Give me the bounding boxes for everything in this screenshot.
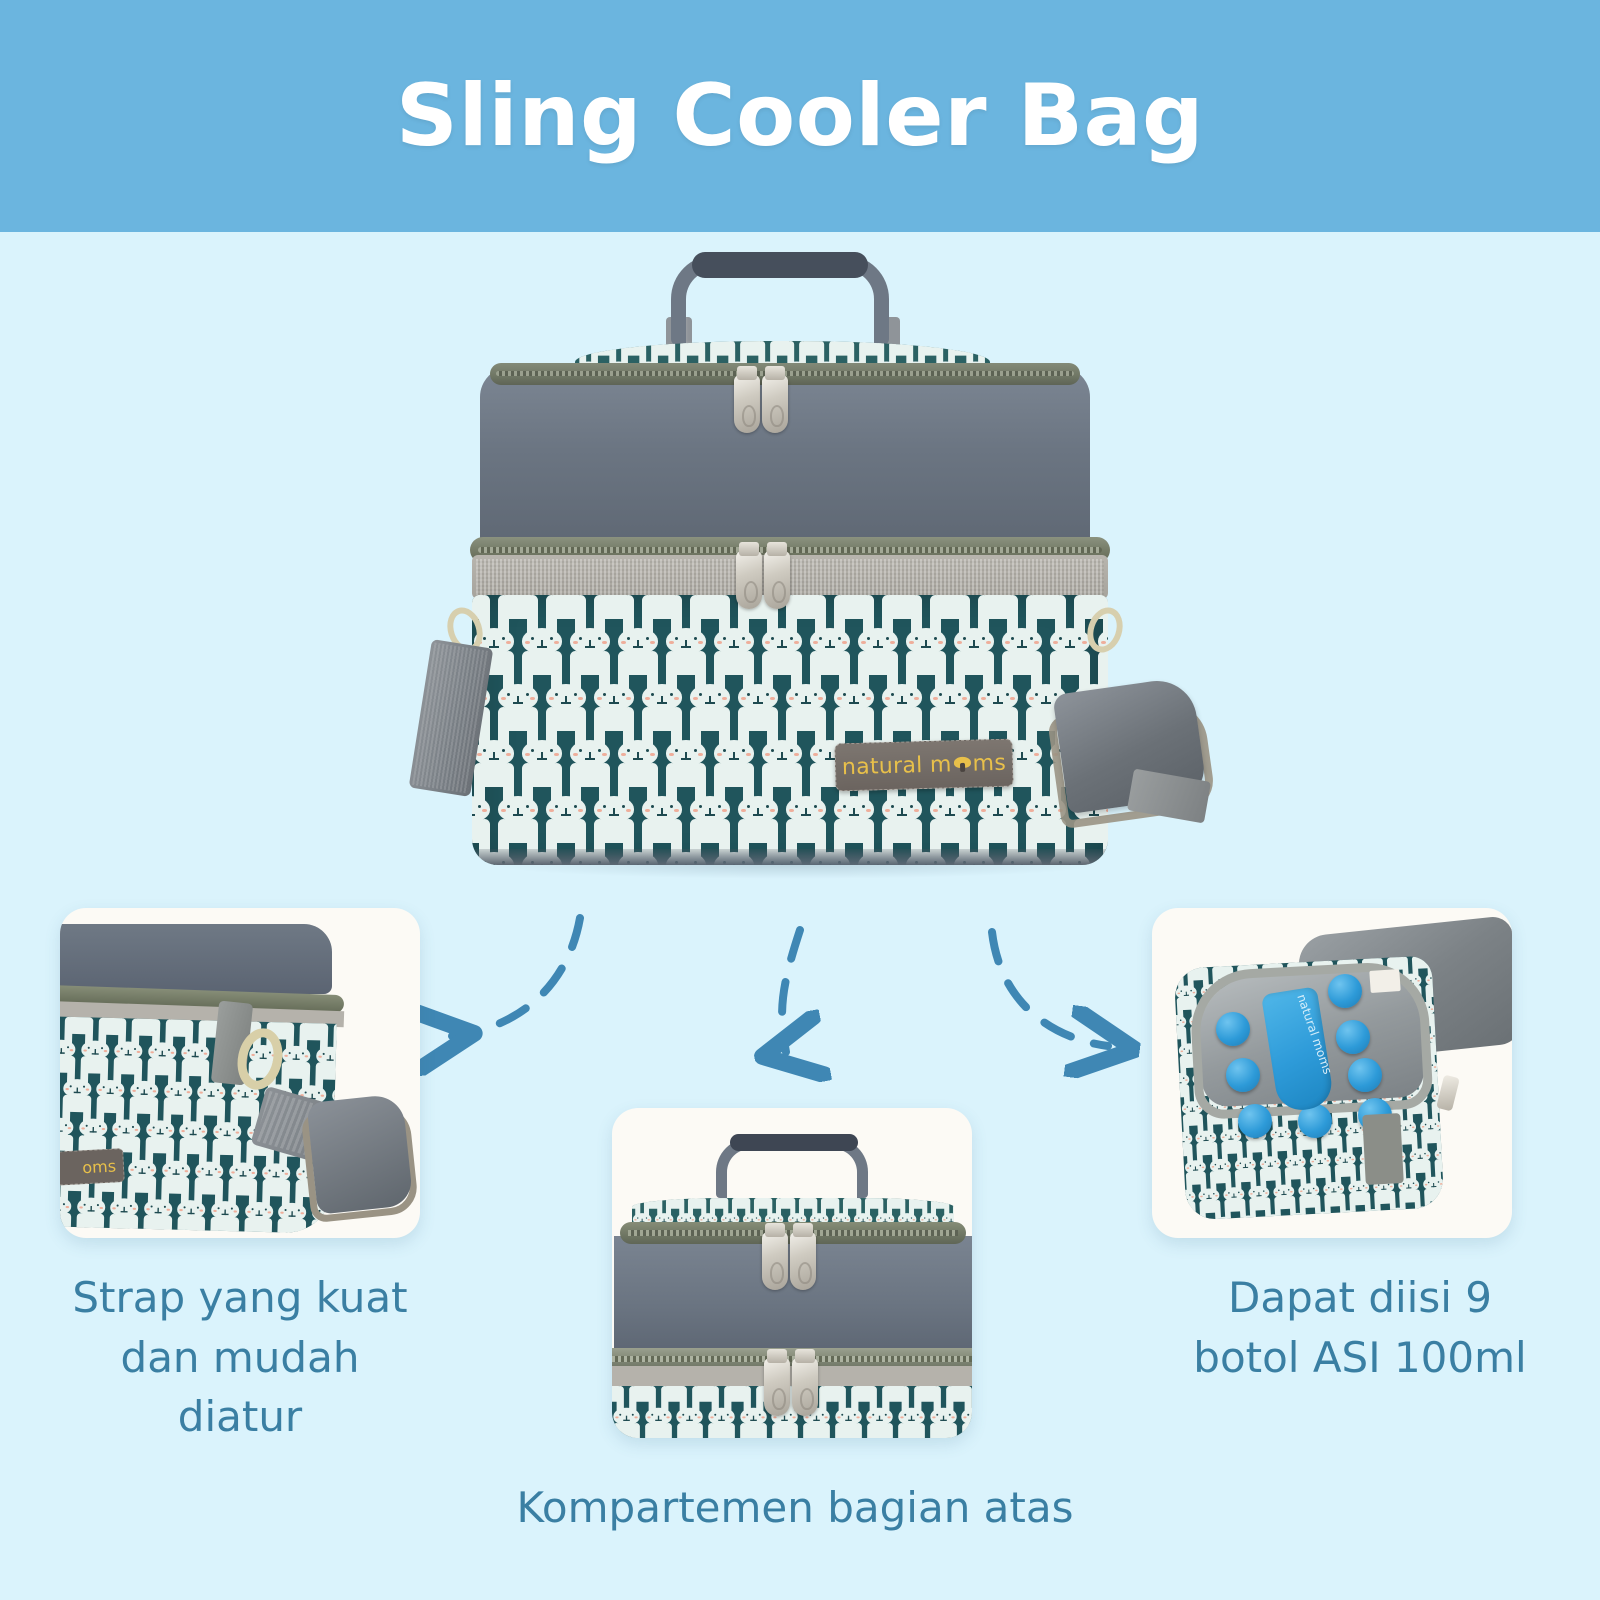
bunny-cheek-right <box>935 1219 937 1221</box>
bunny-cheek-right <box>1431 1008 1434 1010</box>
bunny-cheek-right <box>251 1171 255 1173</box>
bunny-cheek-left <box>693 809 698 812</box>
bunny-cheek-left <box>79 1206 83 1208</box>
bunny-eye-left <box>795 805 798 808</box>
bunny-nose <box>157 1207 159 1213</box>
bunny-ear-right <box>1174 955 1180 960</box>
bunny-nose <box>76 1088 78 1094</box>
bunny-nose <box>565 808 567 816</box>
bunny-cheek-left <box>1188 963 1191 965</box>
bunny-motif-icon <box>158 1215 190 1234</box>
bunny-eye-right <box>302 1052 304 1054</box>
bunny-cheek-right <box>166 1208 170 1210</box>
bunny-cheek-left <box>1029 697 1034 700</box>
bunny-cheek-right <box>634 1416 637 1418</box>
bunny-cheek-right <box>267 1211 271 1213</box>
bunny-eye-right <box>250 1090 252 1092</box>
bunny-cheek-left <box>1180 1051 1183 1053</box>
bunny-eye-right <box>910 805 913 808</box>
bunny-motif-icon <box>259 1218 291 1234</box>
bunny-eye-left <box>637 1217 639 1219</box>
bunny-eye-right <box>201 1050 203 1052</box>
bunny-ear-left <box>335 1063 336 1091</box>
arrow-to-strap-card <box>452 918 580 1036</box>
bunny-eye-left <box>483 861 486 864</box>
bunny-eye-left <box>946 1217 948 1219</box>
bunny-cheek-right <box>285 1172 289 1174</box>
bunny-eye-right <box>282 1169 284 1171</box>
bunny-cheek-left <box>501 809 506 812</box>
bunny-eye-left <box>987 805 990 808</box>
bunny-body-shape <box>1174 1056 1175 1069</box>
bunny-eye-left <box>202 1167 204 1169</box>
card1-brand-patch: oms <box>60 1148 125 1186</box>
bunny-ear-right <box>1198 955 1205 959</box>
bunny-cheek-left <box>745 1219 747 1221</box>
bunny-cheek-right <box>151 1169 155 1171</box>
bunny-cheek-left <box>65 1088 69 1090</box>
card1-brand-patch-text: oms <box>82 1156 117 1177</box>
bunny-eye-left <box>659 1217 661 1219</box>
bunny-cheek-left <box>148 1130 152 1132</box>
bunny-nose <box>329 1055 331 1061</box>
bunny-cheek-right <box>1278 958 1281 960</box>
bunny-eye-right <box>574 805 577 808</box>
bunny-eye-left <box>619 1414 621 1416</box>
bunny-ears <box>759 1423 779 1438</box>
bunny-nose <box>733 640 735 648</box>
bunny-cheek-right <box>962 697 967 700</box>
bunny-cheek-right <box>626 697 631 700</box>
bunny-eye-left <box>168 1166 170 1168</box>
bunny-cheek-left <box>182 1130 186 1132</box>
bunny-cheek-right <box>666 1416 669 1418</box>
bunny-eye-right <box>742 637 745 640</box>
bunny-cheek-right <box>758 1219 760 1221</box>
bunny-nose <box>92 1127 94 1133</box>
bunny-cheek-right <box>218 1171 222 1173</box>
bunny-eye-right <box>478 805 481 808</box>
bunny-eye-left <box>1035 693 1038 696</box>
bunny-eye-left <box>714 1414 716 1416</box>
bunny-eye-left <box>119 1126 121 1128</box>
bunny-eye-right <box>217 1089 219 1091</box>
bunny-cheek-left <box>130 1168 134 1170</box>
bunny-eye-right <box>1414 978 1416 980</box>
bunny-nose <box>244 1092 246 1098</box>
bunny-eye-right <box>231 1207 233 1209</box>
bunny-cheek-right <box>301 1212 305 1214</box>
bunny-nose <box>541 752 543 760</box>
bunny-cheek-left <box>861 641 866 644</box>
bunny-motif-icon <box>850 1423 879 1438</box>
bunny-nose <box>208 1170 210 1176</box>
bunny-cheek-right <box>770 697 775 700</box>
bunny-nose <box>242 1170 244 1176</box>
bunny-cheek-right <box>253 1093 257 1095</box>
bunny-nose <box>1175 1021 1176 1025</box>
bunny-eye-right <box>165 1127 167 1129</box>
bunny-cheek-left <box>549 809 554 812</box>
bunny-cheek-left <box>877 1219 879 1221</box>
bunny-nose <box>949 696 951 704</box>
bunny-cheek-left <box>813 753 818 756</box>
bunny-motif-icon <box>124 1214 156 1233</box>
bunny-cheek-left <box>115 1129 119 1131</box>
bunny-eye-left <box>873 1414 875 1416</box>
bunny-nose <box>1045 808 1047 816</box>
bunny-cheek-right <box>674 697 679 700</box>
bunny-eye-left <box>152 1127 154 1129</box>
bunny-nose <box>901 808 903 816</box>
bunny-cheek-left <box>678 1219 680 1221</box>
bunny-cheek-right <box>913 1219 915 1221</box>
bunny-cheek-left <box>99 1089 103 1091</box>
bunny-eye-right <box>838 637 841 640</box>
bunny-cheek-left <box>549 697 554 700</box>
bunny-cheek-right <box>305 1055 309 1057</box>
bunny-ear-left <box>759 1423 766 1438</box>
bunny-eye-right <box>150 1088 152 1090</box>
bunny-cheek-right <box>650 753 655 756</box>
bunny-nose <box>517 696 519 704</box>
bunny-eye-right <box>598 749 601 752</box>
bunny-cheek-right <box>1010 697 1015 700</box>
bunny-ear-right <box>1223 955 1230 958</box>
bunny-cheek-right <box>938 641 943 644</box>
bunny-nose <box>781 752 783 760</box>
bunny-cheek-right <box>1185 1080 1188 1082</box>
bunny-nose <box>60 1048 62 1054</box>
bunny-eye-left <box>723 637 726 640</box>
bunny-eye-left <box>968 1414 970 1416</box>
bunny-cheek-right <box>1228 961 1231 963</box>
bunny-eye-left <box>627 749 630 752</box>
bunny-cheek-right <box>1417 980 1420 982</box>
bunny-eye-left <box>285 1209 287 1211</box>
bunny-cheek-right <box>1179 963 1182 965</box>
bunny-nose <box>127 1050 129 1056</box>
bunny-eye-right <box>197 1206 199 1208</box>
bunny-cheek-right <box>530 697 535 700</box>
bunny-eye-right <box>1176 961 1178 963</box>
bunny-eye-right <box>1054 805 1057 808</box>
bunny-eye-right <box>822 1217 824 1219</box>
bunny-nose <box>626 1416 628 1421</box>
feature-card-capacity[interactable]: natural moms <box>1152 908 1512 1238</box>
bunny-cheek-left <box>909 641 914 644</box>
bunny-eye-left <box>531 749 534 752</box>
bunny-cheek-left <box>669 641 674 644</box>
bunny-nose <box>901 696 903 704</box>
bunny-eye-right <box>632 1414 634 1416</box>
bunny-nose <box>784 1416 786 1421</box>
bunny-ear-left <box>918 1423 925 1438</box>
bunny-cheek-right <box>1034 641 1039 644</box>
bunny-cheek-left <box>284 1055 288 1057</box>
bunny-eye-right <box>814 693 817 696</box>
bunny-eye-right <box>1179 1020 1181 1022</box>
bunny-cheek-left <box>805 1416 808 1418</box>
bunny-eye-right <box>934 637 937 640</box>
bunny-nose <box>110 1089 112 1095</box>
bunny-ears <box>854 1423 874 1438</box>
bunny-eye-left <box>723 749 726 752</box>
bunny-cheek-right <box>891 1219 893 1221</box>
bunny-ear-left <box>331 1220 336 1234</box>
bunny-nose <box>661 696 663 704</box>
bunny-ears <box>1213 955 1230 958</box>
bunny-cheek-left <box>811 1219 813 1221</box>
bunny-cheek-left <box>197 1170 201 1172</box>
bunny-eye-left <box>1107 861 1108 864</box>
bunny-nose <box>258 1210 260 1216</box>
bunny-nose <box>1196 962 1197 966</box>
bunny-ears <box>163 1215 185 1233</box>
bunny-eye-right <box>248 1169 250 1171</box>
bunny-eye-left <box>902 1217 904 1219</box>
bunny-eye-left <box>747 693 750 696</box>
bunny-ears <box>886 1423 906 1438</box>
bunny-eye-right <box>1182 1078 1184 1080</box>
bunny-nose <box>853 808 855 816</box>
bunny-motif-icon <box>191 1216 223 1234</box>
bunny-nose <box>637 752 639 760</box>
bunny-cheek-left <box>813 641 818 644</box>
bunny-cheek-right <box>866 697 871 700</box>
bunny-nose <box>226 1131 228 1137</box>
bunny-motif-icon <box>913 1423 942 1438</box>
bunny-ear-right <box>244 1217 252 1233</box>
bunny-eye-left <box>1183 1048 1185 1050</box>
bunny-eye-right <box>298 1209 300 1211</box>
bunny-cheek-left <box>679 1416 682 1418</box>
bunny-eye-left <box>1266 957 1268 959</box>
brand-flower-icon <box>953 755 970 772</box>
bunny-eye-left <box>675 637 678 640</box>
bunny-cheek-right <box>914 697 919 700</box>
bunny-cheek-left <box>200 1092 204 1094</box>
bunny-eye-left <box>987 693 990 696</box>
bunny-nose <box>1021 640 1023 648</box>
bunny-motif-icon <box>660 1423 689 1438</box>
bunny-cheek-right <box>321 1095 325 1097</box>
bunny-ear-left <box>298 1219 306 1234</box>
bunny-cheek-right <box>204 1053 208 1055</box>
bunny-cheek-left <box>981 697 986 700</box>
bunny-ear-left <box>696 1423 703 1438</box>
bunny-cheek-left <box>334 1095 337 1097</box>
bunny-nose <box>94 1049 96 1055</box>
bunny-eye-right <box>663 1414 665 1416</box>
bunny-ears <box>664 1423 684 1438</box>
bunny-eye-right <box>134 1048 136 1050</box>
bunny-ears <box>918 1423 938 1438</box>
thumbnail-top-compartment-closeup <box>612 1108 972 1438</box>
bunny-cheek-left <box>765 753 770 756</box>
bunny-ear-left <box>63 1213 71 1234</box>
bunny-eye-left <box>843 805 846 808</box>
zipper-pull-middle-a <box>736 551 762 609</box>
bunny-eye-right <box>598 637 601 640</box>
bunny-cheek-right <box>802 1219 804 1221</box>
bunny-ear-right <box>143 1215 151 1234</box>
bunny-cheek-right <box>648 1219 650 1221</box>
bunny-cheek-left <box>164 1169 168 1171</box>
bunny-ears <box>231 1217 253 1234</box>
bunny-nose <box>291 1211 293 1217</box>
bunny-nose <box>295 1054 297 1060</box>
bunny-eye-right <box>670 805 673 808</box>
bunny-cheek-left <box>112 1207 116 1209</box>
bunny-cheek-left <box>1427 979 1430 981</box>
bunny-motif-icon <box>691 1423 720 1438</box>
bunny-pattern <box>472 595 1108 865</box>
bunny-nose <box>1045 696 1047 704</box>
bunny-eye-left <box>1241 958 1243 960</box>
bunny-nose <box>949 808 951 816</box>
bunny-eye-right <box>917 1414 919 1416</box>
bunny-ear-left <box>163 1215 171 1233</box>
bunny-eye-left <box>483 749 486 752</box>
bunny-eye-right <box>167 1049 169 1051</box>
bunny-eye-left <box>1011 637 1014 640</box>
bunny-cheek-right <box>220 1092 224 1094</box>
bunny-cheek-left <box>837 809 842 812</box>
bunny-nose <box>190 1208 192 1214</box>
bunny-nose <box>175 1169 177 1175</box>
bunny-cheek-right <box>602 753 607 756</box>
bunny-eye-left <box>725 1217 727 1219</box>
bunny-eye-left <box>747 1217 749 1219</box>
bunny-cheek-left <box>117 1050 121 1052</box>
bunny-cheek-left <box>767 1219 769 1221</box>
bunny-cheek-left <box>1005 641 1010 644</box>
bunny-ear-right <box>177 1216 185 1234</box>
bunny-cheek-left <box>899 1219 901 1221</box>
bunny-motif-icon <box>786 1423 815 1438</box>
bunny-cheek-right <box>482 809 487 812</box>
bunny-ears <box>264 1218 286 1234</box>
bunny-eye-left <box>121 1048 123 1050</box>
bunny-eye-right <box>886 637 889 640</box>
bunny-nose <box>589 752 591 760</box>
bunny-cheek-left <box>932 1416 935 1418</box>
feature-card-top-compartment[interactable] <box>612 1108 972 1438</box>
bunny-nose <box>877 640 879 648</box>
bunny-eye-left <box>483 637 486 640</box>
bunny-cheek-right <box>770 809 775 812</box>
bunny-nose <box>275 1171 277 1177</box>
bunny-eye-right <box>718 805 721 808</box>
brand-word-moms-tail: ms <box>972 750 1006 776</box>
bunny-ears <box>331 1220 336 1234</box>
bunny-eye-right <box>622 693 625 696</box>
bunny-cheek-left <box>717 753 722 756</box>
bunny-nose <box>141 1168 143 1174</box>
bunny-cheek-right <box>168 1130 172 1132</box>
bunny-eye-left <box>699 805 702 808</box>
mesh-trim-band <box>472 555 1108 599</box>
bunny-cheek-left <box>615 1416 618 1418</box>
bunny-nose <box>192 1130 194 1136</box>
bunny-eye-left <box>746 1414 748 1416</box>
bunny-cheek-left <box>1238 960 1241 962</box>
bunny-cheek-left <box>933 697 938 700</box>
bunny-nose <box>997 696 999 704</box>
bunny-cheek-right <box>692 1219 694 1221</box>
bunny-eye-right <box>622 805 625 808</box>
bunny-ear-left <box>854 1423 861 1438</box>
bunny-cheek-left <box>81 1128 85 1130</box>
bunny-nose <box>1296 957 1297 961</box>
bunny-ear-right <box>708 1423 715 1438</box>
bunny-cheek-right <box>66 1206 70 1208</box>
bunny-cheek-right <box>506 753 511 756</box>
bunny-eye-right <box>766 805 769 808</box>
bunny-eye-right <box>502 749 505 752</box>
bunny-eye-left <box>507 805 510 808</box>
bunny-eye-right <box>163 1206 165 1208</box>
bunny-cheek-left <box>741 697 746 700</box>
bunny-eye-left <box>915 637 918 640</box>
bunny-nose <box>816 1416 818 1421</box>
bunny-cheek-right <box>729 1416 732 1418</box>
bunny-cheek-left <box>215 1131 219 1133</box>
bunny-eye-left <box>858 1217 860 1219</box>
bunny-eye-right <box>814 805 817 808</box>
bunny-cheek-left <box>180 1209 184 1211</box>
bunny-cheek-left <box>833 1219 835 1221</box>
bunny-cheek-left <box>869 1416 872 1418</box>
bunny-nose <box>709 808 711 816</box>
lower-compartment-body <box>472 595 1108 865</box>
bunny-ear-left <box>823 1423 830 1438</box>
bunny-cheek-right <box>602 641 607 644</box>
feature-card-strap[interactable]: oms <box>60 908 420 1238</box>
bunny-cheek-right <box>135 1129 139 1131</box>
bunny-ears <box>1103 819 1108 859</box>
bunny-cheek-left <box>573 641 578 644</box>
brand-label-text: natural m ms <box>842 750 1007 780</box>
bunny-eye-right <box>526 693 529 696</box>
bunny-cheek-left <box>621 641 626 644</box>
bunny-cheek-right <box>698 753 703 756</box>
bunny-cheek-right <box>1182 1021 1185 1023</box>
bunny-eye-left <box>681 1217 683 1219</box>
bunny-nose <box>589 640 591 648</box>
bunny-eye-left <box>1216 959 1218 961</box>
bunny-nose <box>1069 640 1071 648</box>
bunny-eye-right <box>264 1208 266 1210</box>
bunny-cheek-right <box>506 641 511 644</box>
bunny-ear-right <box>110 1214 118 1234</box>
bunny-nose <box>997 808 999 816</box>
bunny-motif-icon <box>818 1423 847 1438</box>
bunny-nose <box>565 696 567 704</box>
bunny-cheek-left <box>789 1219 791 1221</box>
bunny-cheek-right <box>554 641 559 644</box>
bunny-cheek-right <box>793 1416 796 1418</box>
bunny-eye-left <box>251 1208 253 1210</box>
bunny-cheek-right <box>170 1052 174 1054</box>
bunny-cheek-left <box>150 1051 154 1053</box>
bunny-eye-left <box>819 749 822 752</box>
bunny-eye-right <box>948 1414 950 1416</box>
bunny-cheek-left <box>265 1172 269 1174</box>
bunny-cheek-left <box>1029 809 1034 812</box>
bunny-motif-icon <box>91 1213 123 1233</box>
